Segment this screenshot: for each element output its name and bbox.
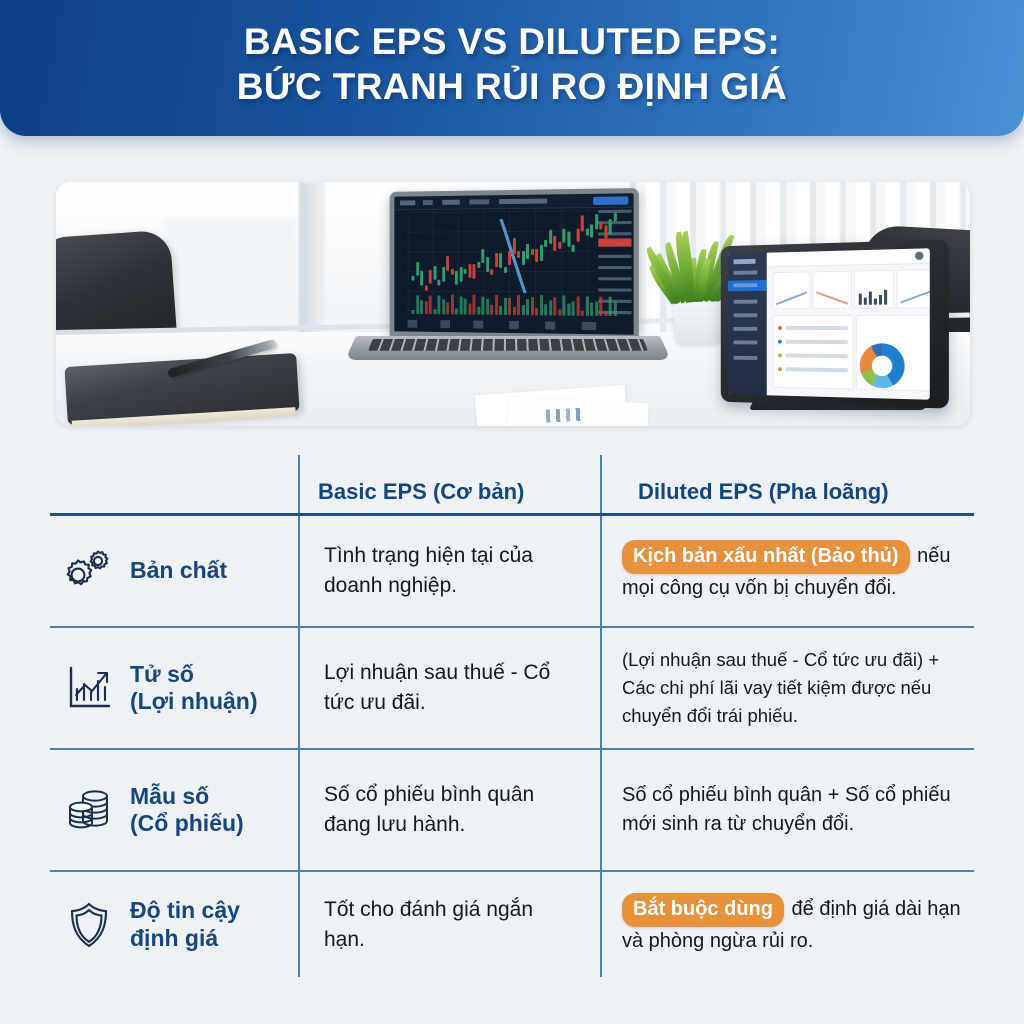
kpi-sparkline <box>901 290 930 305</box>
column-divider-2 <box>600 750 602 870</box>
cell-basic: Số cổ phiếu bình quân đang lưu hành. <box>298 780 600 840</box>
column-divider-1 <box>298 516 300 626</box>
kpi-card <box>772 271 810 309</box>
table-row: Tử số (Lợi nhuận) Lợi nhuận sau thuế - C… <box>50 628 974 750</box>
dashboard-logo <box>733 259 755 264</box>
row-label-line2: (Lợi nhuận) <box>130 688 258 714</box>
table-header-row: Basic EPS (Cơ bản) Diluted EPS (Pha loãn… <box>50 455 974 516</box>
table-row: Bản chất Tình trạng hiện tại của doanh n… <box>50 516 974 628</box>
dashboard-table-row <box>786 326 848 330</box>
cell-basic: Tình trạng hiện tại của doanh nghiệp. <box>298 541 600 601</box>
row-label: Tử số (Lợi nhuận) <box>130 661 258 715</box>
dashboard-topbar <box>767 248 930 267</box>
row-label-cell: Mẫu số (Cổ phiếu) <box>50 781 298 839</box>
row-label: Bản chất <box>130 557 227 584</box>
dashboard-table-row <box>786 354 848 359</box>
column-header-basic: Basic EPS (Cơ bản) <box>318 479 524 505</box>
cell-diluted: Bắt buộc dùng để định giá dài hạn và phò… <box>600 893 974 956</box>
highlight-badge: Kịch bản xấu nhất (Bảo thủ) <box>622 540 910 574</box>
row-label-line2: định giá <box>130 925 218 951</box>
dashboard-nav-item <box>733 327 757 331</box>
cell-basic: Lợi nhuận sau thuế - Cổ tức ưu đãi. <box>298 658 600 718</box>
tablet-screen <box>728 248 930 399</box>
cell-diluted: Kịch bản xấu nhất (Bảo thủ) nếu mọi công… <box>600 540 974 603</box>
plant-pot <box>674 300 722 344</box>
dashboard-nav-item <box>733 313 757 317</box>
laptop-screen <box>390 188 639 340</box>
kpi-minibars <box>859 288 889 305</box>
column-divider-1 <box>298 628 300 748</box>
table-row: Độ tin cậy định giá Tốt cho đánh giá ngắ… <box>50 872 974 977</box>
row-label-cell: Tử số (Lợi nhuận) <box>50 659 298 717</box>
laptop-keyboard <box>368 339 648 351</box>
column-divider-2 <box>600 516 602 626</box>
hero-photo <box>56 182 970 426</box>
comparison-table: Basic EPS (Cơ bản) Diluted EPS (Pha loãn… <box>50 455 974 975</box>
column-divider-2 <box>600 628 602 748</box>
dashboard-table-row <box>786 340 848 344</box>
status-dot <box>778 367 782 371</box>
kpi-card <box>812 271 851 310</box>
dashboard-nav-item <box>733 356 757 360</box>
column-divider-1 <box>298 455 300 513</box>
row-label: Độ tin cậy định giá <box>130 897 240 951</box>
column-divider-1 <box>298 872 300 977</box>
dashboard-nav-item <box>733 340 757 344</box>
dashboard-nav-item <box>733 283 757 287</box>
dashboard-table-card <box>772 315 853 390</box>
row-label-line1: Độ tin cậy <box>130 897 240 923</box>
row-label-cell: Độ tin cậy định giá <box>50 896 298 954</box>
candlestick-series <box>411 208 621 292</box>
kpi-card <box>896 269 929 309</box>
volume-series <box>411 292 621 316</box>
status-dot <box>778 353 782 357</box>
tablet <box>721 239 949 408</box>
window-pane <box>164 218 296 338</box>
header-banner: BASIC EPS VS DILUTED EPS: BỨC TRANH RỦI … <box>0 0 1024 136</box>
table-row: Mẫu số (Cổ phiếu) Số cổ phiếu bình quân … <box>50 750 974 872</box>
coin-stack-icon <box>60 781 118 839</box>
row-label-line1: Bản chất <box>130 557 227 583</box>
dashboard-nav-item <box>733 300 757 304</box>
header-title-line2: BỨC TRANH RỦI RO ĐỊNH GIÁ <box>237 64 787 109</box>
dashboard-table-row <box>786 367 848 372</box>
laptop-keyboard-base <box>345 336 671 360</box>
cell-basic: Tốt cho đánh giá ngắn hạn. <box>298 895 600 955</box>
dashboard-nav-item <box>733 270 757 274</box>
dashboard-sidebar <box>728 253 767 396</box>
shield-icon <box>60 896 118 954</box>
status-dot <box>778 340 782 344</box>
photo-scene <box>56 182 970 426</box>
bar-chart-arrow-icon <box>60 659 118 717</box>
highlight-badge: Bắt buộc dùng <box>622 893 784 927</box>
row-label-line1: Mẫu số <box>130 783 209 809</box>
donut-chart <box>860 343 905 389</box>
cell-diluted: (Lợi nhuận sau thuế - Cổ tức ưu đãi) + C… <box>600 646 974 729</box>
gears-icon <box>60 542 118 600</box>
column-divider-2 <box>600 872 602 977</box>
kpi-card <box>854 270 895 309</box>
row-label-line2: (Cổ phiếu) <box>130 810 244 836</box>
column-divider-2 <box>600 455 602 513</box>
column-divider-1 <box>298 750 300 870</box>
dashboard-avatar <box>915 252 923 260</box>
header-title-line1: BASIC EPS VS DILUTED EPS: <box>244 19 780 64</box>
trading-buy-button <box>593 196 628 205</box>
row-label-line1: Tử số <box>130 661 194 687</box>
status-dot <box>778 326 782 330</box>
time-axis <box>408 320 596 330</box>
kpi-sparkline <box>816 291 847 305</box>
column-header-diluted: Diluted EPS (Pha loãng) <box>638 479 889 505</box>
row-label: Mẫu số (Cổ phiếu) <box>130 783 244 837</box>
row-label-cell: Bản chất <box>50 542 298 600</box>
kpi-sparkline <box>776 291 807 305</box>
cell-diluted: Số cổ phiếu bình quân + Số cổ phiếu mới … <box>600 781 974 839</box>
